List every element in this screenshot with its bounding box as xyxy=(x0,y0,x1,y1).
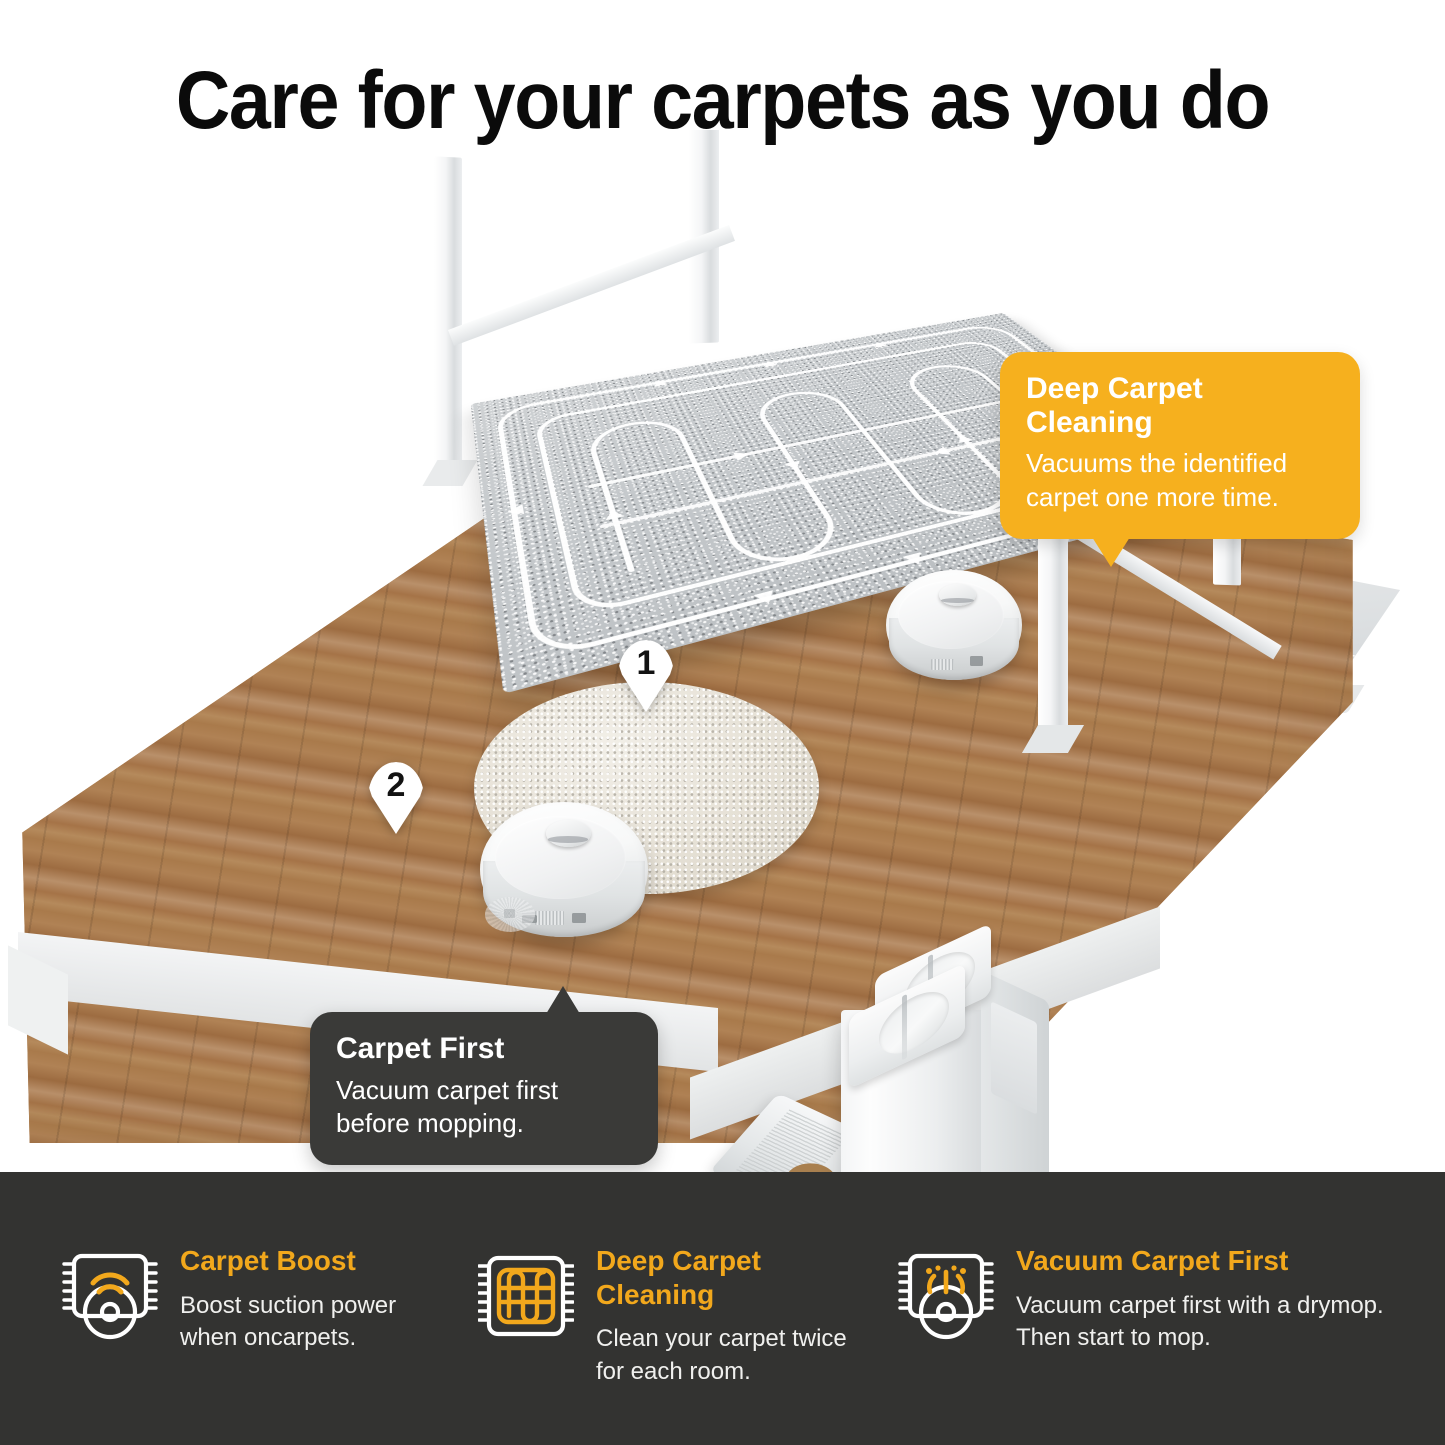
robot-lidar-turret xyxy=(546,820,591,847)
callout-tail-icon xyxy=(546,986,580,1014)
feature-vacuum-carpet-first: Vacuum Carpet First Vacuum carpet first … xyxy=(880,1172,1400,1445)
callout-tail-icon xyxy=(1092,537,1130,567)
callout-body: Vacuums the identified carpet one more t… xyxy=(1026,447,1334,515)
robot-side-brush xyxy=(485,897,535,932)
dock-station xyxy=(745,938,1045,1175)
scene-illustration: 1 2 Deep Carpet Cleaning Vacuums the ide… xyxy=(0,130,1445,1175)
table-leg-back-left xyxy=(434,156,462,469)
feature-text: Carpet Boost Boost suction power when on… xyxy=(180,1244,460,1355)
feature-description: Vacuum carpet first with a drymop. Then … xyxy=(1016,1290,1400,1355)
feature-text: Vacuum Carpet First Vacuum carpet first … xyxy=(1016,1244,1400,1355)
callout-carpet-first: Carpet First Vacuum carpet first before … xyxy=(310,1012,658,1165)
robot-vacuum-on-carpet xyxy=(886,570,1022,680)
pin-marker-1: 1 xyxy=(618,640,674,712)
robot-lidar-turret xyxy=(939,584,976,606)
feature-title: Vacuum Carpet First xyxy=(1016,1244,1400,1278)
feature-bar: Carpet Boost Boost suction power when on… xyxy=(0,1172,1445,1445)
feature-title: Deep Carpet Cleaning xyxy=(596,1244,880,1311)
carpet-boost-icon xyxy=(62,1244,158,1353)
feature-description: Clean your carpet twice for each room. xyxy=(596,1323,880,1388)
feature-deep-carpet-cleaning: Deep Carpet Cleaning Clean your carpet t… xyxy=(460,1172,880,1445)
vacuum-carpet-first-icon xyxy=(898,1244,994,1353)
callout-title: Carpet First xyxy=(336,1032,632,1066)
robot-sensor-port xyxy=(970,656,982,666)
product-feature-page: Care for your carpets as you do xyxy=(0,0,1445,1445)
pin-label: 2 xyxy=(368,768,424,802)
callout-body: Vacuum carpet first before mopping. xyxy=(336,1074,632,1142)
robot-port-right xyxy=(572,913,585,924)
feature-text: Deep Carpet Cleaning Clean your carpet t… xyxy=(596,1244,880,1388)
pin-marker-2: 2 xyxy=(368,762,424,834)
feature-carpet-boost: Carpet Boost Boost suction power when on… xyxy=(0,1172,460,1445)
pin-label: 1 xyxy=(618,646,674,680)
deep-carpet-cleaning-icon xyxy=(478,1244,574,1353)
callout-deep-carpet-cleaning: Deep Carpet Cleaning Vacuums the identif… xyxy=(1000,352,1360,539)
robot-vacuum-on-floor xyxy=(480,802,648,937)
callout-title: Deep Carpet Cleaning xyxy=(1026,372,1334,439)
feature-description: Boost suction power when oncarpets. xyxy=(180,1290,460,1355)
robot-vent xyxy=(535,911,564,925)
feature-title: Carpet Boost xyxy=(180,1244,460,1278)
robot-vent xyxy=(931,659,954,670)
